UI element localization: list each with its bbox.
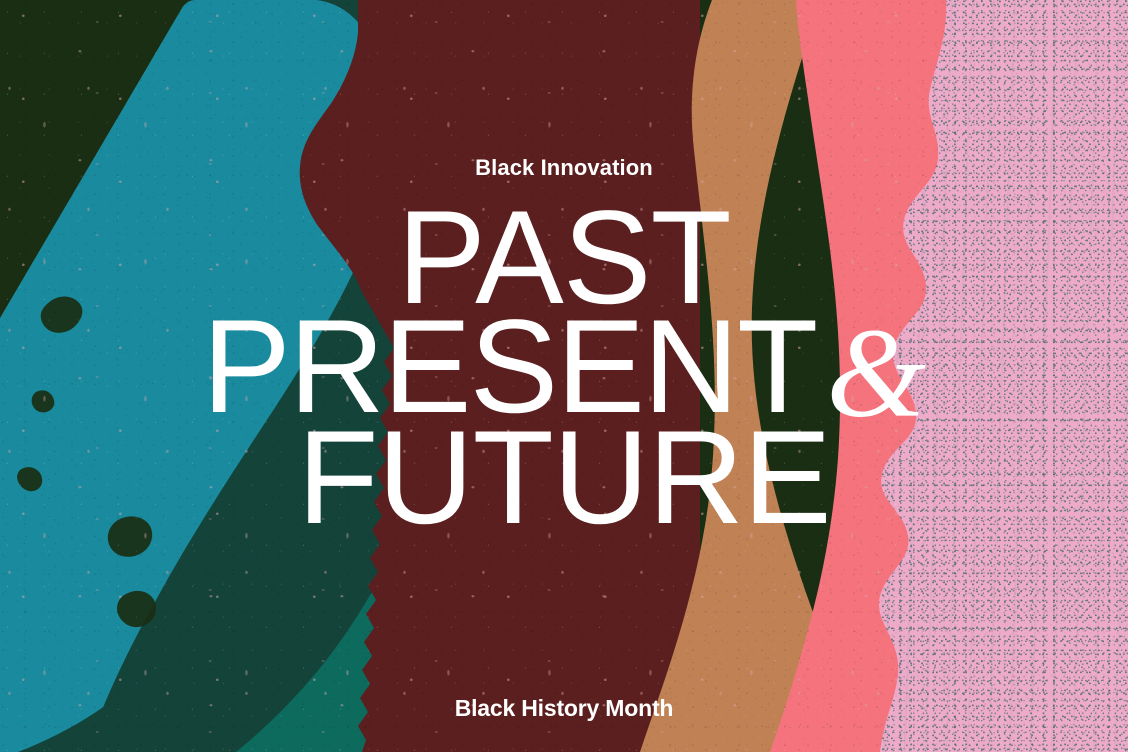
poster-canvas: Black Innovation PAST PRESENT& FUTURE Bl…: [0, 0, 1128, 752]
footer-label: Black History Month: [0, 697, 1128, 720]
eyebrow-label: Black Innovation: [0, 157, 1128, 179]
headline-line-future: FUTURE: [0, 423, 1128, 535]
